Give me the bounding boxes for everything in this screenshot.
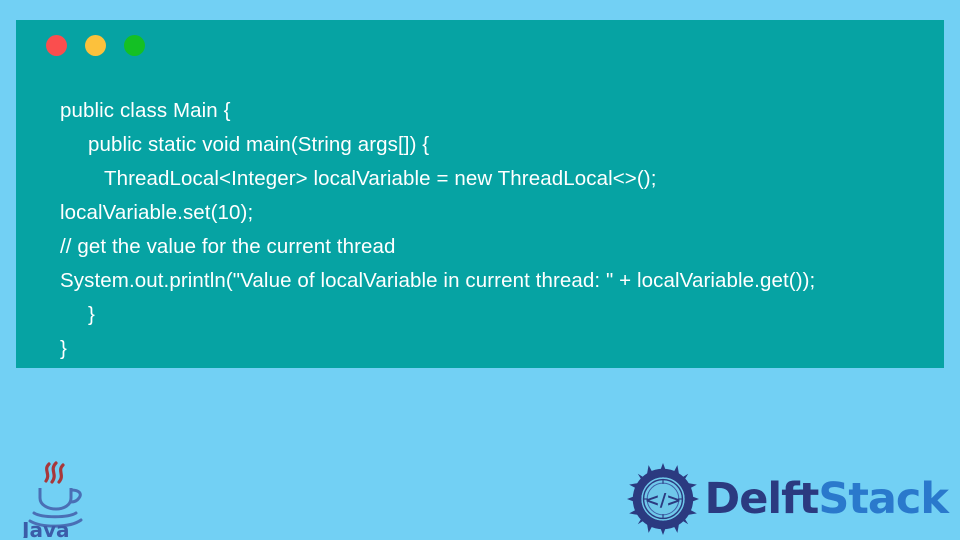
java-logo-label: Java <box>20 518 69 538</box>
code-line: public class Main { <box>16 94 930 128</box>
delftstack-word-first: Delft <box>705 474 819 524</box>
code-block[interactable]: public class Main { public static void m… <box>16 94 944 366</box>
delftstack-wordmark: DelftStack <box>705 478 949 521</box>
java-cup-icon: Java <box>18 460 92 538</box>
delftstack-word-second: Stack <box>818 474 948 524</box>
code-line: } <box>16 298 930 332</box>
code-glyph-icon: </> <box>644 490 681 511</box>
java-logo: Java <box>18 460 92 538</box>
code-line: public static void main(String args[]) { <box>16 128 930 162</box>
close-window-button[interactable] <box>46 35 67 56</box>
code-line: } <box>16 332 930 366</box>
code-line: ThreadLocal<Integer> localVariable = new… <box>16 162 930 196</box>
code-line: localVariable.set(10); <box>16 196 930 230</box>
delftstack-logo: </> DelftStack <box>627 464 949 534</box>
code-window: public class Main { public static void m… <box>16 20 944 368</box>
maximize-window-button[interactable] <box>124 35 145 56</box>
window-titlebar <box>16 20 145 70</box>
code-line: // get the value for the current thread <box>16 230 930 264</box>
minimize-window-button[interactable] <box>85 35 106 56</box>
code-line: System.out.println("Value of localVariab… <box>16 264 930 298</box>
delftstack-mandala-icon: </> <box>627 463 699 535</box>
